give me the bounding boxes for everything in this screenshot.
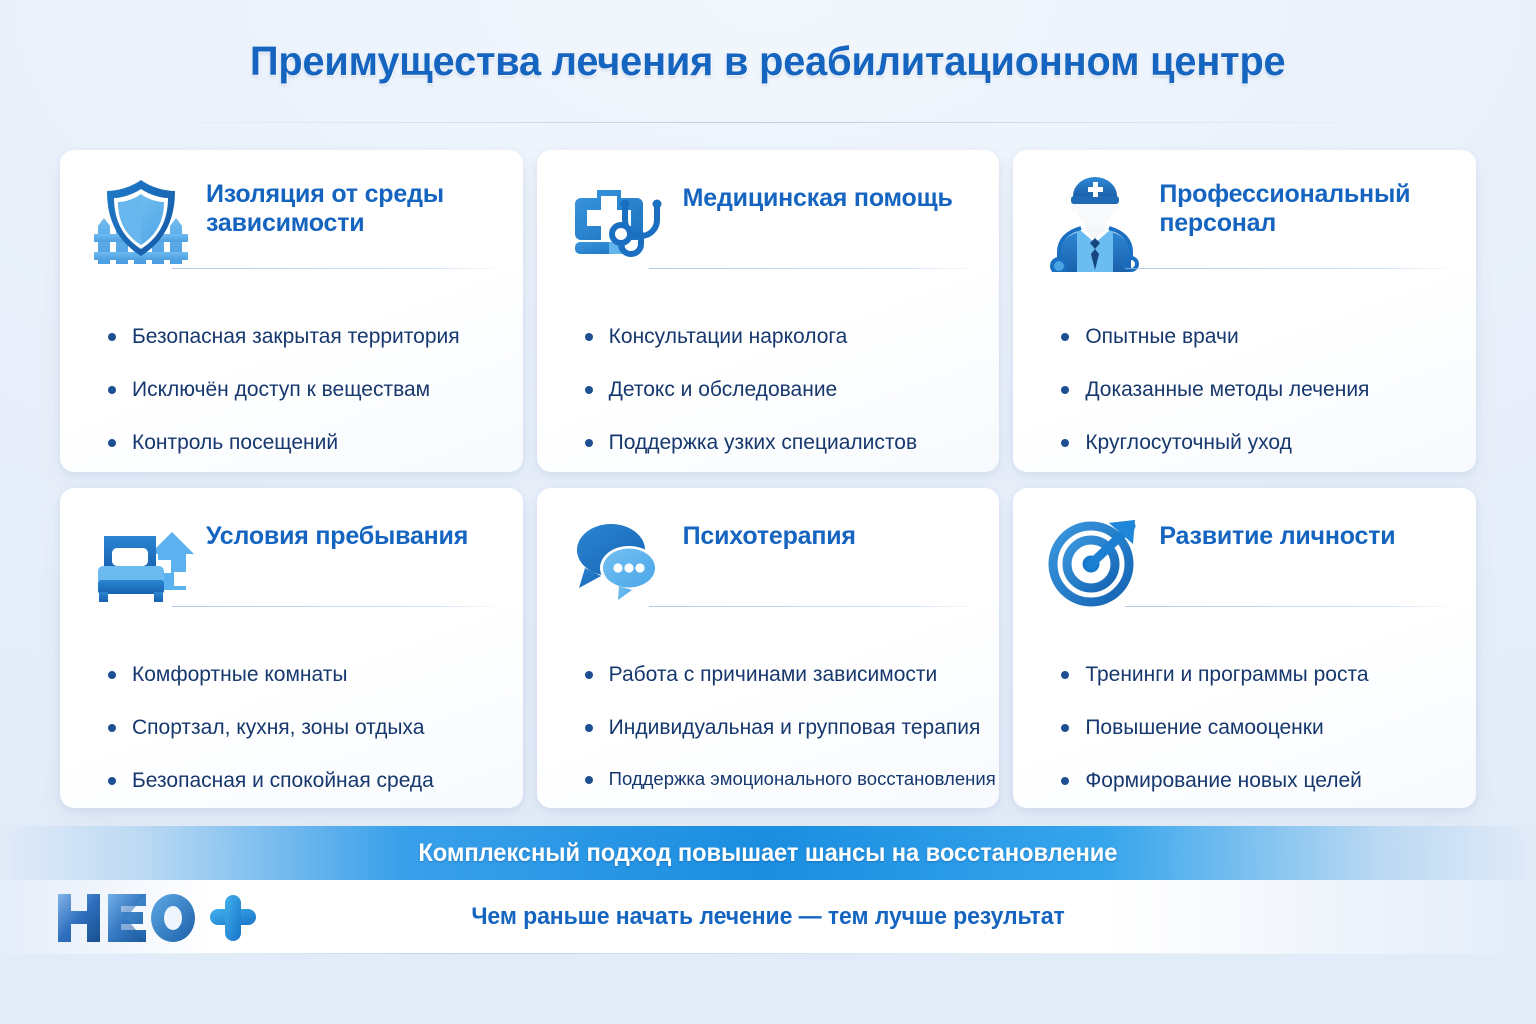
benefit-card-psychotherapy[interactable]: Психотерапия Работа с причинами зависимо…: [537, 488, 1000, 808]
page-title: Преимущества лечения в реабилитационном …: [250, 38, 1285, 85]
benefits-grid: Изоляция от среды зависимости Безопасная…: [60, 150, 1476, 808]
shield-fence-icon: [90, 176, 194, 272]
card-bullet-list: Тренинги и программы роста Повышение сам…: [1043, 610, 1446, 794]
card-bullet-list: Опытные врачи Доказанные методы лечения …: [1043, 272, 1446, 456]
card-title: Медицинская помощь: [683, 176, 970, 213]
list-item: Консультации нарколога: [585, 324, 970, 349]
medical-bag-stethoscope-icon: [567, 176, 671, 272]
benefit-card-staff[interactable]: Профессиональный персонал Опытные врачи …: [1013, 150, 1476, 472]
footer-subbar: Чем раньше начать лечение — тем лучше ре…: [0, 880, 1536, 954]
list-item: Повышение самооценки: [1061, 715, 1446, 740]
benefit-card-personal-growth[interactable]: Развитие личности Тренинги и программы р…: [1013, 488, 1476, 808]
list-item: Индивидуальная и групповая терапия: [585, 715, 970, 740]
list-item: Поддержка эмоционального восстановления: [585, 768, 970, 790]
card-header: Развитие личности: [1043, 514, 1446, 610]
list-item: Круглосуточный уход: [1061, 430, 1446, 455]
card-header: Профессиональный персонал: [1043, 176, 1446, 272]
list-item: Работа с причинами зависимости: [585, 662, 970, 687]
card-title: Развитие личности: [1159, 514, 1446, 551]
list-item: Спортзал, кухня, зоны отдыха: [108, 715, 493, 740]
list-item: Тренинги и программы роста: [1061, 662, 1446, 687]
card-bullet-list: Работа с причинами зависимости Индивидуа…: [567, 610, 970, 791]
benefit-card-accommodation[interactable]: Условия пребывания Комфортные комнаты Сп…: [60, 488, 523, 808]
card-header: Медицинская помощь: [567, 176, 970, 272]
card-title: Профессиональный персонал: [1159, 176, 1446, 238]
footer-tagline: Чем раньше начать лечение — тем лучше ре…: [31, 903, 1506, 931]
bed-house-icon: [90, 514, 194, 610]
list-item: Исключён доступ к веществам: [108, 377, 493, 402]
list-item: Комфортные комнаты: [108, 662, 493, 687]
benefit-card-isolation[interactable]: Изоляция от среды зависимости Безопасная…: [60, 150, 523, 472]
card-divider: [649, 606, 972, 607]
card-bullet-list: Безопасная закрытая территория Исключён …: [90, 272, 493, 456]
card-divider: [1125, 268, 1448, 269]
card-bullet-list: Комфортные комнаты Спортзал, кухня, зоны…: [90, 610, 493, 794]
card-bullet-list: Консультации нарколога Детокс и обследов…: [567, 272, 970, 456]
title-divider: [120, 122, 1416, 123]
page-header: Преимущества лечения в реабилитационном …: [0, 0, 1536, 85]
list-item: Детокс и обследование: [585, 377, 970, 402]
card-title: Условия пребывания: [206, 514, 493, 551]
doctor-icon: [1043, 176, 1147, 272]
card-header: Психотерапия: [567, 514, 970, 610]
footer: Комплексный подход повышает шансы на вос…: [0, 826, 1536, 976]
card-divider: [172, 268, 495, 269]
list-item: Контроль посещений: [108, 430, 493, 455]
speech-bubbles-icon: [567, 514, 671, 610]
card-divider: [649, 268, 972, 269]
card-divider: [172, 606, 495, 607]
card-header: Условия пребывания: [90, 514, 493, 610]
list-item: Опытные врачи: [1061, 324, 1446, 349]
card-title: Изоляция от среды зависимости: [206, 176, 493, 238]
footer-banner: Комплексный подход повышает шансы на вос…: [0, 826, 1536, 880]
card-title: Психотерапия: [683, 514, 970, 551]
footer-banner-text: Комплексный подход повышает шансы на вос…: [419, 839, 1118, 868]
target-arrow-icon: [1043, 514, 1147, 610]
card-divider: [1125, 606, 1448, 607]
list-item: Доказанные методы лечения: [1061, 377, 1446, 402]
card-header: Изоляция от среды зависимости: [90, 176, 493, 272]
list-item: Формирование новых целей: [1061, 768, 1446, 793]
list-item: Поддержка узких специалистов: [585, 430, 970, 455]
benefit-card-medical-help[interactable]: Медицинская помощь Консультации нарколог…: [537, 150, 1000, 472]
list-item: Безопасная и спокойная среда: [108, 768, 493, 793]
list-item: Безопасная закрытая территория: [108, 324, 493, 349]
